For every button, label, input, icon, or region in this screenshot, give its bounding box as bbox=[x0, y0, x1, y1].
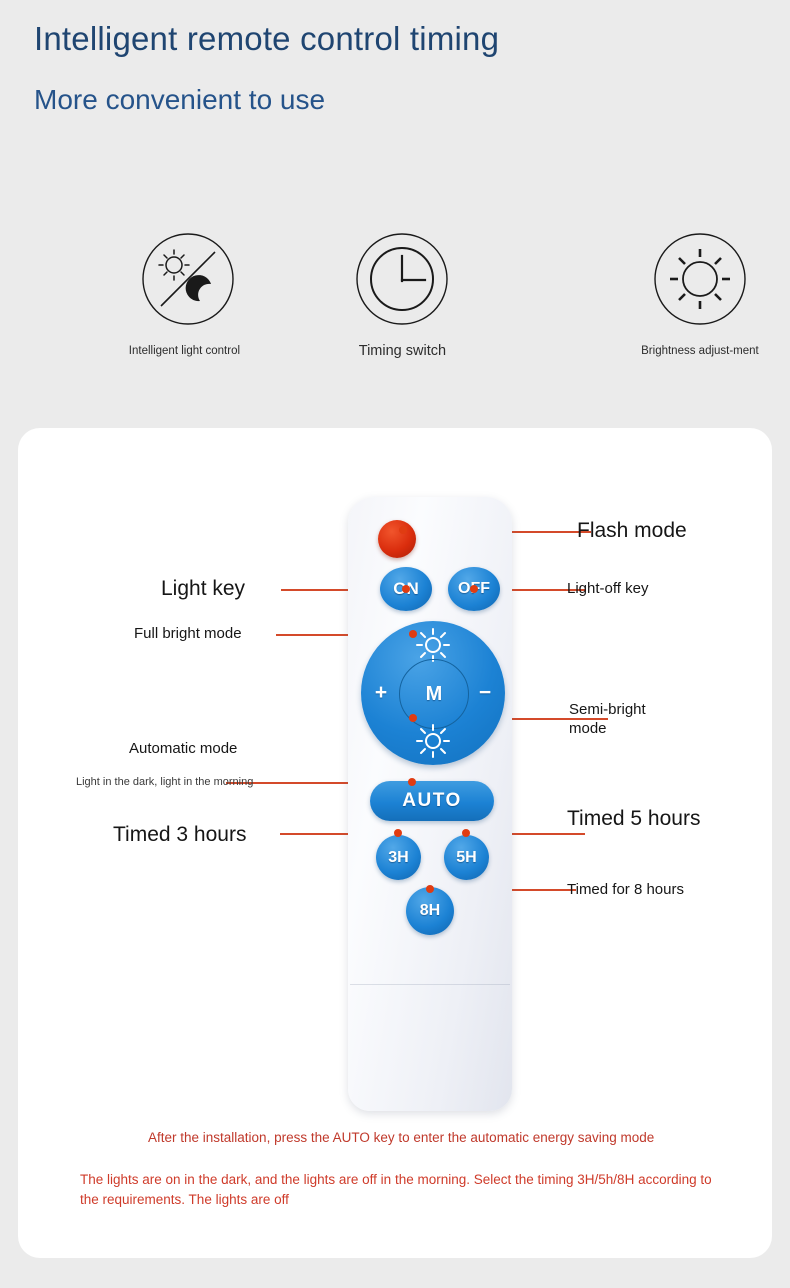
page-header: Intelligent remote control timing More c… bbox=[34, 18, 634, 117]
clock-icon bbox=[355, 232, 449, 326]
callout-semi-bright-mode: Semi-bright mode bbox=[569, 701, 669, 739]
callout-flash-mode: Flash mode bbox=[577, 518, 687, 544]
callout-timed-3-hours: Timed 3 hours bbox=[113, 822, 246, 848]
feature-label: Brightness adjust-ment bbox=[641, 344, 759, 359]
caption-auto-key: After the installation, press the AUTO k… bbox=[148, 1128, 678, 1148]
timer-5h-button[interactable]: 5H bbox=[444, 835, 489, 880]
full-bright-sun-icon[interactable] bbox=[415, 627, 451, 663]
semi-bright-sun-icon[interactable] bbox=[415, 723, 451, 759]
callout-full-bright-mode: Full bright mode bbox=[134, 625, 242, 644]
brightness-decrease-button[interactable]: − bbox=[473, 681, 497, 705]
timer-8h-button[interactable]: 8H bbox=[406, 887, 454, 935]
callout-dot-light-off-key bbox=[470, 585, 478, 593]
brightness-increase-button[interactable]: + bbox=[369, 681, 393, 705]
timer-3h-button[interactable]: 3H bbox=[376, 835, 421, 880]
callout-dot-timed-8-hours bbox=[426, 885, 434, 893]
callout-dot-full-bright bbox=[409, 630, 417, 638]
sun-moon-icon bbox=[141, 232, 235, 326]
remote-control-device: ON OFF + M − bbox=[348, 497, 512, 1111]
callout-dot-timed-5-hours bbox=[462, 829, 470, 837]
callout-dot-light-key bbox=[402, 585, 410, 593]
feature-intelligent-light-control: Intelligent light control bbox=[53, 232, 323, 359]
caption-timing-usage: The lights are on in the dark, and the l… bbox=[80, 1170, 714, 1210]
page-subtitle: More convenient to use bbox=[34, 59, 634, 117]
feature-label: Intelligent light control bbox=[129, 344, 247, 359]
remote-seam-line bbox=[350, 984, 510, 985]
callout-automatic-mode-sub: Light in the dark, light in the morning bbox=[76, 776, 253, 790]
feature-label: Timing switch bbox=[327, 344, 477, 359]
auto-button[interactable]: AUTO bbox=[370, 781, 494, 821]
callout-timed-8-hours: Timed for 8 hours bbox=[567, 881, 684, 900]
callout-dot-automatic-mode bbox=[408, 778, 416, 786]
brightness-wheel[interactable]: + M − bbox=[361, 621, 505, 765]
callout-dot-timed-3-hours bbox=[394, 829, 402, 837]
callout-dot-flash-mode bbox=[399, 526, 407, 534]
callout-dot-semi-bright bbox=[409, 714, 417, 722]
flash-mode-button[interactable] bbox=[378, 520, 416, 558]
brightness-icon bbox=[653, 232, 747, 326]
feature-row: Intelligent light control Timing switch bbox=[0, 232, 790, 359]
callout-light-key: Light key bbox=[161, 576, 245, 602]
callout-light-off-key: Light-off key bbox=[567, 580, 648, 599]
callout-automatic-mode: Automatic mode bbox=[129, 740, 237, 759]
feature-timing-switch: Timing switch bbox=[323, 232, 483, 359]
callout-timed-5-hours: Timed 5 hours bbox=[567, 806, 700, 832]
feature-brightness-adjustment: Brightness adjust-ment bbox=[610, 232, 790, 359]
page-title: Intelligent remote control timing bbox=[34, 18, 634, 59]
